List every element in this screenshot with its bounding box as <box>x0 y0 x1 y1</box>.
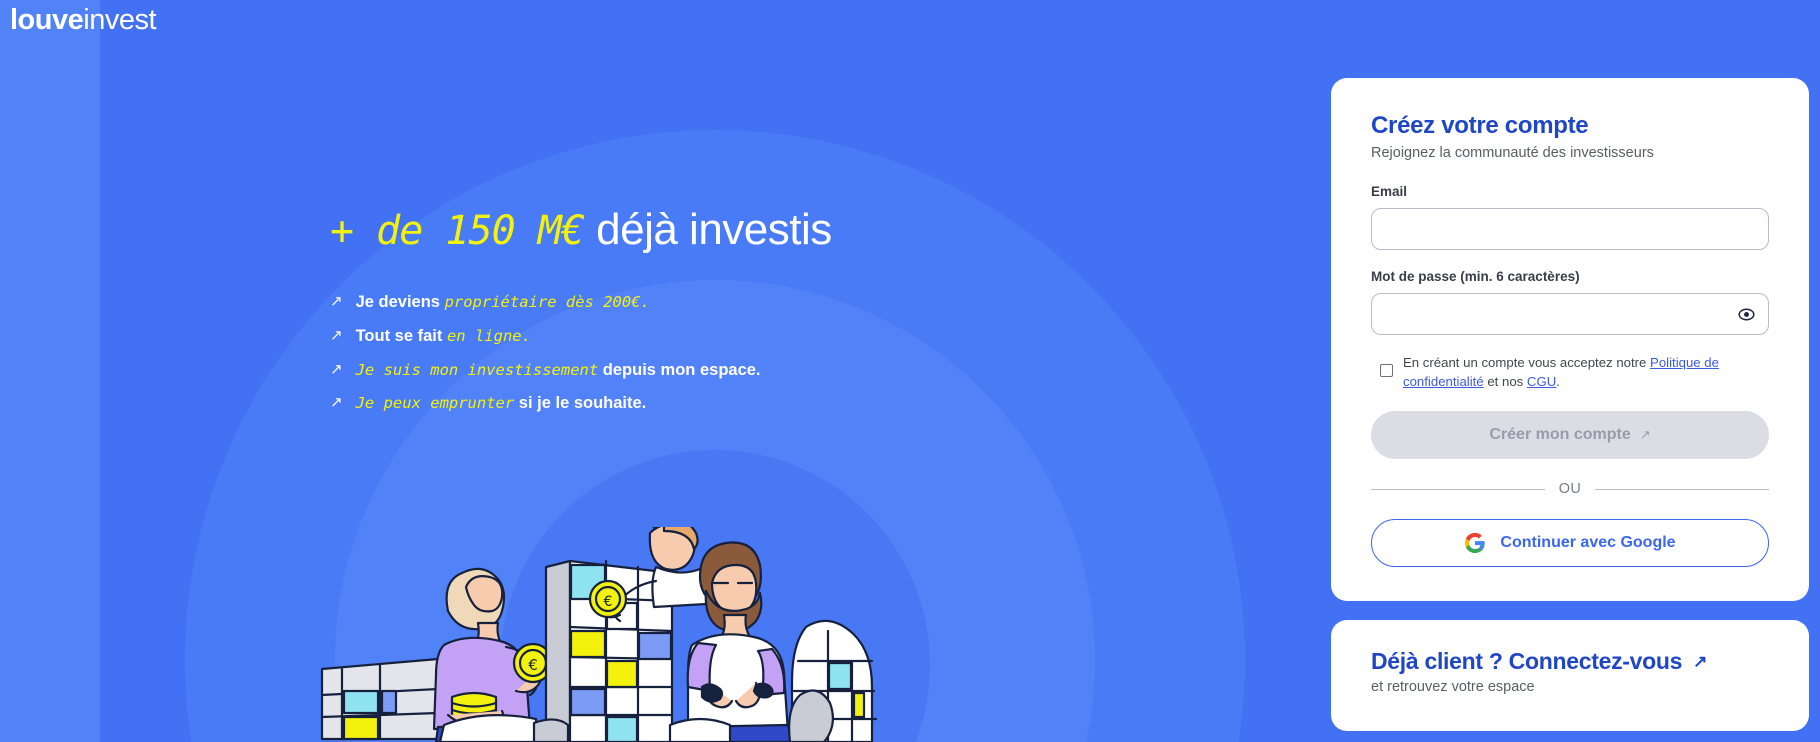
login-subtitle: et retrouvez votre espace <box>1371 679 1769 695</box>
arrow-up-right-icon: ↗ <box>1640 427 1651 443</box>
password-field-wrapper <box>1371 293 1769 335</box>
divider-line-right <box>1595 489 1769 490</box>
benefit-highlight: en ligne. <box>447 327 531 345</box>
list-item: ↗ Je deviens propriétaire dès 200€. <box>330 292 1280 313</box>
google-icon <box>1464 532 1486 554</box>
arrow-up-right-icon: ↗ <box>330 292 343 312</box>
logo-text-bold: louve <box>10 4 83 36</box>
email-label: Email <box>1371 184 1769 199</box>
divider-line-left <box>1371 489 1545 490</box>
hero-headline-amount: + de 150 M€ <box>330 208 584 254</box>
create-account-button[interactable]: Créer mon compte ↗ <box>1371 411 1769 459</box>
consent-middle: et nos <box>1484 374 1527 389</box>
divider: OU <box>1371 481 1769 497</box>
eye-icon[interactable] <box>1736 304 1756 324</box>
cgu-link[interactable]: CGU <box>1527 374 1556 389</box>
arrow-up-right-icon: ↗ <box>330 360 343 380</box>
terms-checkbox[interactable] <box>1380 364 1393 377</box>
list-item: ↗ Tout se fait en ligne. <box>330 326 1280 347</box>
continue-with-google-button[interactable]: Continuer avec Google <box>1371 519 1769 567</box>
benefit-text: Je peux emprunter si je le souhaite. <box>356 393 647 414</box>
benefit-lead: Je deviens <box>356 293 445 311</box>
consent-row: En créant un compte vous acceptez notre … <box>1380 354 1769 391</box>
benefit-lead: Tout se fait <box>356 327 447 345</box>
arrow-up-right-icon: ↗ <box>330 326 343 346</box>
hero-benefits-list: ↗ Je deviens propriétaire dès 200€. ↗ To… <box>330 292 1280 414</box>
auth-panel: Créez votre compte Rejoignez la communau… <box>1331 78 1809 731</box>
list-item: ↗ Je suis mon investissement depuis mon … <box>330 360 1280 381</box>
benefit-highlight: propriétaire dès 200€. <box>445 293 650 311</box>
email-field-wrapper <box>1371 208 1769 250</box>
consent-text: En créant un compte vous acceptez notre … <box>1403 354 1769 391</box>
email-field[interactable] <box>1371 208 1769 250</box>
login-title-text: Déjà client ? Connectez-vous <box>1371 648 1682 675</box>
list-item: ↗ Je peux emprunter si je le souhaite. <box>330 393 1280 414</box>
svg-text:€: € <box>528 656 538 674</box>
consent-prefix: En créant un compte vous acceptez notre <box>1403 355 1650 370</box>
benefit-text: Je suis mon investissement depuis mon es… <box>356 360 761 381</box>
logo-text-light: invest <box>83 4 156 36</box>
louveinvest-logo[interactable]: louveinvest <box>10 6 156 35</box>
arrow-up-right-icon: ↗ <box>330 393 343 413</box>
create-account-label: Créer mon compte <box>1489 426 1630 444</box>
password-label: Mot de passe (min. 6 caractères) <box>1371 269 1769 284</box>
investors-illustration: € € <box>320 527 880 742</box>
password-field[interactable] <box>1371 293 1769 335</box>
benefit-highlight: Je suis mon investissement <box>356 361 599 379</box>
hero-headline-text: déjà investis <box>596 205 832 254</box>
svg-text:€: € <box>604 594 613 610</box>
consent-suffix: . <box>1556 374 1560 389</box>
arrow-up-right-icon: ↗ <box>1693 652 1707 672</box>
benefit-trail: si je le souhaite. <box>514 394 646 412</box>
divider-label: OU <box>1559 481 1582 497</box>
login-link[interactable]: Déjà client ? Connectez-vous ↗ <box>1371 648 1769 675</box>
signup-subtitle: Rejoignez la communauté des investisseur… <box>1371 145 1769 161</box>
google-button-label: Continuer avec Google <box>1500 534 1675 552</box>
page-title: Créez votre compte <box>1371 112 1769 140</box>
benefit-text: Je deviens propriétaire dès 200€. <box>356 292 650 313</box>
benefit-highlight: Je peux emprunter <box>356 394 515 412</box>
benefit-text: Tout se fait en ligne. <box>356 326 531 347</box>
hero-headline: + de 150 M€ déjà investis <box>330 205 1280 254</box>
benefit-trail: depuis mon espace. <box>598 361 760 379</box>
login-card[interactable]: Déjà client ? Connectez-vous ↗ et retrou… <box>1331 620 1809 731</box>
signup-card: Créez votre compte Rejoignez la communau… <box>1331 78 1809 601</box>
